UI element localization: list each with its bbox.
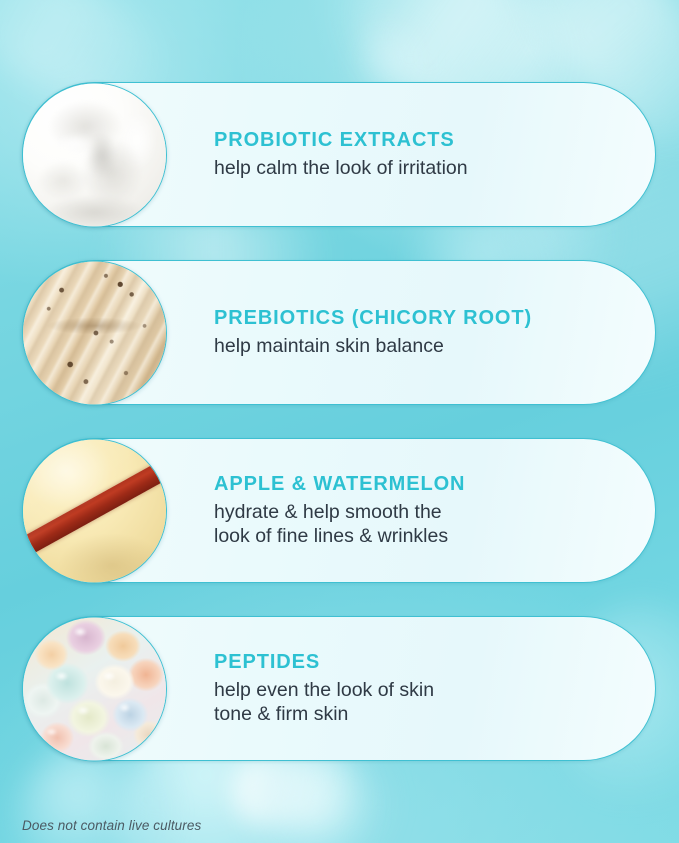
iridescent-beads-photo (23, 617, 166, 760)
ingredient-description: help even the look of skin tone & firm s… (214, 677, 434, 726)
ingredient-thumbnail-peptides (22, 616, 167, 761)
ingredient-description: help calm the look of irritation (214, 156, 468, 181)
ingredient-thumbnail-apple-watermelon (22, 438, 167, 583)
ingredient-description: hydrate & help smooth the look of fine l… (214, 499, 465, 548)
ingredient-headline: APPLE & WATERMELON (214, 472, 465, 495)
sliced-apple-photo (23, 439, 166, 582)
ingredient-text-block: APPLE & WATERMELON hydrate & help smooth… (214, 472, 465, 548)
chicory-root-fibers-photo (23, 261, 166, 404)
ingredient-row: PROBIOTIC EXTRACTS help calm the look of… (22, 82, 656, 227)
white-cream-swirl-photo (23, 83, 166, 226)
ingredient-row: PREBIOTICS (CHICORY ROOT) help maintain … (22, 260, 656, 405)
ingredient-row: APPLE & WATERMELON hydrate & help smooth… (22, 438, 656, 583)
ingredient-headline: PEPTIDES (214, 650, 434, 673)
ingredient-description: help maintain skin balance (214, 334, 532, 359)
disclaimer-footnote: Does not contain live cultures (22, 818, 201, 833)
ingredient-text-block: PEPTIDES help even the look of skin tone… (214, 650, 434, 726)
ingredient-list: PROBIOTIC EXTRACTS help calm the look of… (0, 0, 679, 843)
ingredient-thumbnail-probiotic-extracts (22, 82, 167, 227)
ingredient-row: PEPTIDES help even the look of skin tone… (22, 616, 656, 761)
ingredient-headline: PROBIOTIC EXTRACTS (214, 129, 468, 152)
ingredient-text-block: PROBIOTIC EXTRACTS help calm the look of… (214, 129, 468, 181)
ingredient-text-block: PREBIOTICS (CHICORY ROOT) help maintain … (214, 307, 532, 359)
ingredient-headline: PREBIOTICS (CHICORY ROOT) (214, 307, 532, 330)
ingredient-thumbnail-prebiotics-chicory-root (22, 260, 167, 405)
